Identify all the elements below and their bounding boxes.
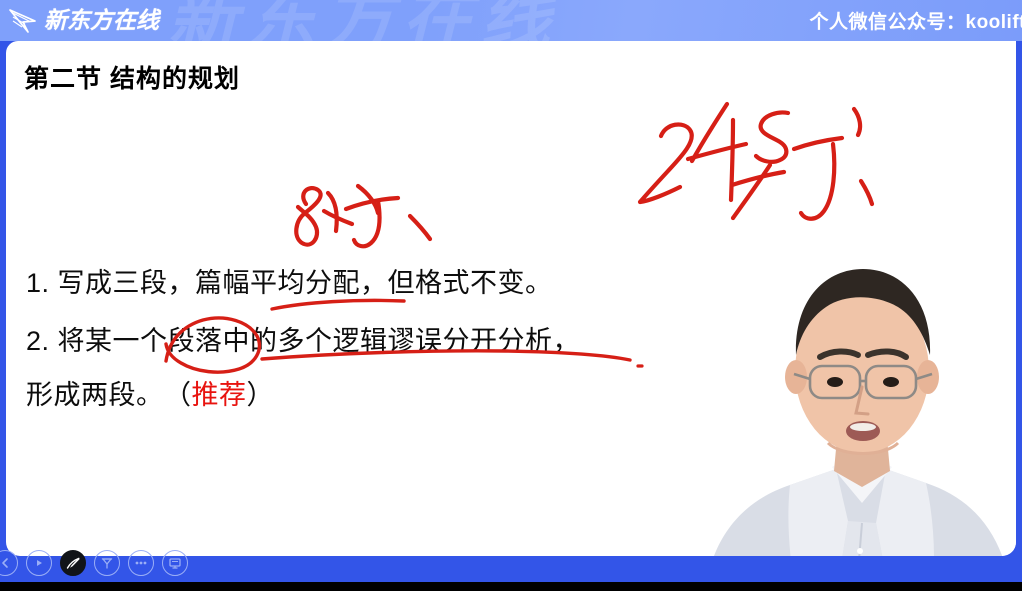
ellipsis-icon <box>133 559 149 567</box>
slide-bullet-3-highlight: 推荐 <box>192 380 247 410</box>
header-watermark: 新东方在线 <box>168 0 558 41</box>
ink-underline-line1 <box>272 300 404 309</box>
laser-pointer-icon <box>100 556 114 570</box>
pen-tool-button[interactable] <box>60 550 86 576</box>
play-button[interactable] <box>26 550 52 576</box>
lecture-player-window: 新东方在线 新东方在线 个人微信公众号：koolift 第二节 结构的规划 1.… <box>0 0 1022 591</box>
slide-content-card: 第二节 结构的规划 1. 写成三段，篇幅平均分配，但格式不变。 2. 将某一个段… <box>6 41 1016 556</box>
slide-bullet-3-prefix: 形成两段。 （ <box>26 380 192 410</box>
screen-share-button[interactable] <box>162 550 188 576</box>
slide-bullet-1: 1. 写成三段，篇幅平均分配，但格式不变。 <box>26 261 553 300</box>
window-bottom-edge <box>0 582 1022 591</box>
brand-arrow-icon <box>8 8 37 34</box>
more-options-button[interactable] <box>128 550 154 576</box>
player-controls <box>0 550 188 576</box>
chevron-left-icon <box>0 557 11 569</box>
pen-icon <box>65 555 82 572</box>
app-header: 新东方在线 新东方在线 个人微信公众号：koolift <box>0 0 1022 41</box>
brand-logo[interactable]: 新东方在线 <box>8 4 159 37</box>
slide-bullet-3: 形成两段。 （推荐） <box>26 373 274 412</box>
previous-button[interactable] <box>0 550 18 576</box>
laser-pointer-button[interactable] <box>94 550 120 576</box>
ink-note-8-lines <box>296 186 430 246</box>
brand-logo-text: 新东方在线 <box>44 9 159 32</box>
play-icon <box>33 557 45 569</box>
slide-bullet-3-suffix: ） <box>247 380 275 410</box>
slide-bullet-2: 2. 将某一个段落中的多个逻辑谬误分开分析， <box>26 319 580 358</box>
screen-icon <box>168 556 182 570</box>
wechat-account-note: 个人微信公众号：koolift <box>810 7 1022 34</box>
slide-title: 第二节 结构的规划 <box>24 59 240 95</box>
instructor-video[interactable] <box>686 231 1016 556</box>
ink-note-24-lines <box>640 104 872 219</box>
